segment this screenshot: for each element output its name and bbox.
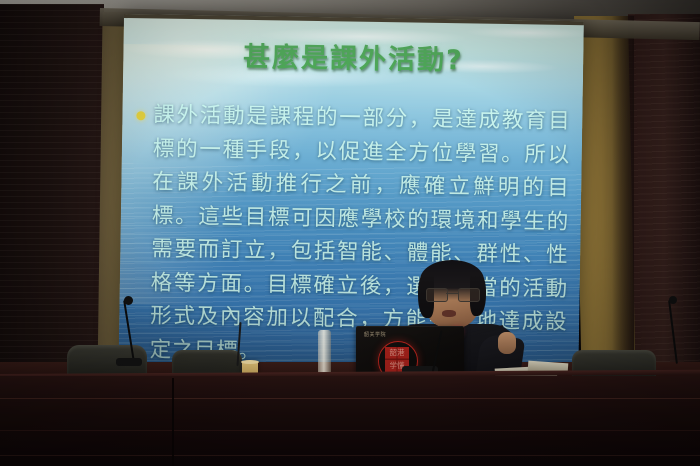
speaker-mouth <box>442 310 456 317</box>
left-wall-texture <box>0 4 104 384</box>
right-wall-texture <box>628 14 700 404</box>
desk-seam <box>0 455 700 456</box>
glasses-bridge <box>446 293 458 294</box>
microphone-right-head-icon <box>669 296 677 304</box>
glasses-lens-right <box>458 288 480 302</box>
paper-cup-rim <box>241 360 259 364</box>
desk-vertical-seam <box>172 378 174 466</box>
microphone-left-base <box>116 358 142 366</box>
desk-front-panel <box>0 376 700 466</box>
glasses-lens-left <box>426 288 448 302</box>
microphone-left-head-icon <box>124 296 133 305</box>
laptop-brand-text: 韶关学院 <box>364 331 386 338</box>
desk-seam <box>0 398 700 399</box>
desk-seam <box>0 430 700 431</box>
glasses-icon <box>426 288 480 300</box>
bullet-point-icon <box>136 111 145 120</box>
right-pillar-shadow <box>612 16 634 396</box>
lecture-hall-photo: 甚麼是課外活動? 課外活動是課程的一部分，是達成教育目標的一種手段，以促進全方位… <box>0 0 700 466</box>
speaker-hand <box>498 332 516 354</box>
